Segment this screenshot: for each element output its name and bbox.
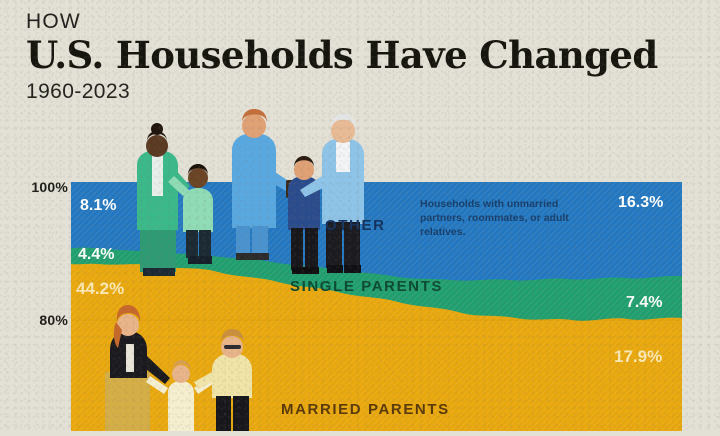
value-single-left: 4.4%: [78, 246, 114, 264]
kicker-text: HOW: [26, 10, 658, 33]
y-tick-100: 100%: [0, 179, 68, 195]
category-label-other: OTHER: [325, 217, 386, 234]
value-married-right: 17.9%: [614, 347, 662, 367]
header-block: HOW U.S. Households Have Changed 1960-20…: [26, 10, 658, 103]
date-range-subtitle: 1960-2023: [26, 80, 658, 103]
category-label-married-parents: MARRIED PARENTS: [281, 401, 450, 418]
value-single-right: 7.4%: [626, 294, 662, 312]
page-title: U.S. Households Have Changed: [26, 36, 658, 76]
value-married-left: 44.2%: [76, 279, 124, 299]
category-label-single-parents: SINGLE PARENTS: [290, 278, 443, 295]
y-tick-80: 80%: [0, 312, 68, 328]
annotation-other: Households with unmarried partners, room…: [420, 198, 570, 240]
value-other-right: 16.3%: [618, 194, 663, 212]
value-other-left: 8.1%: [80, 197, 116, 215]
